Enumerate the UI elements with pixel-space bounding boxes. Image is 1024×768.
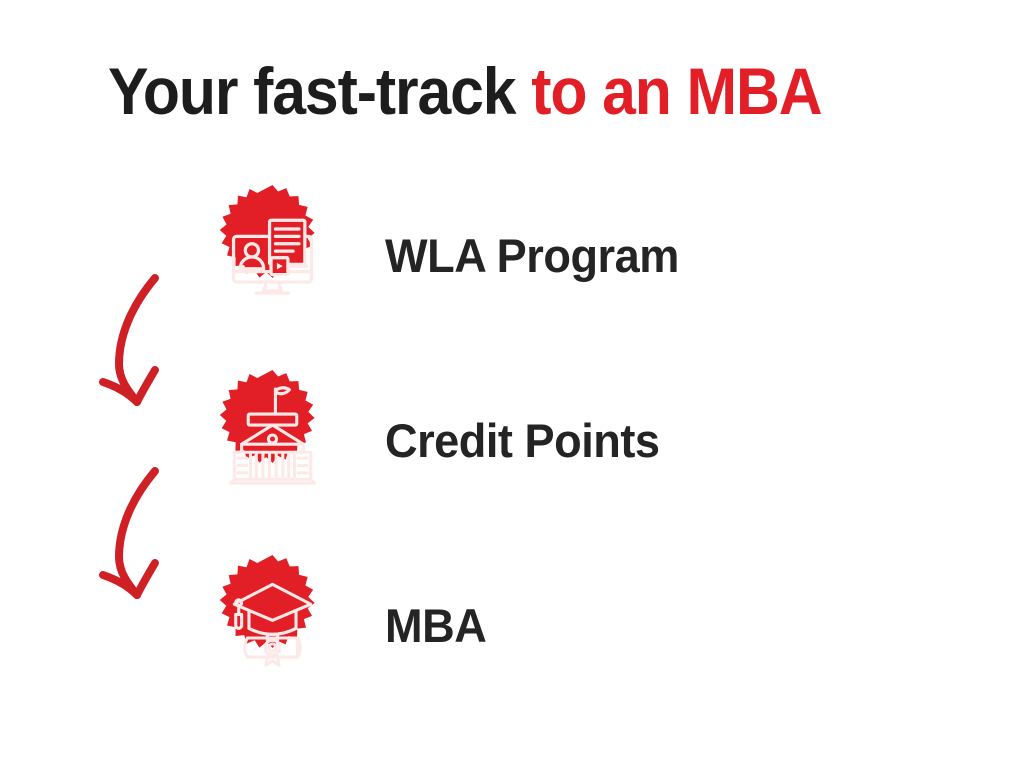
badge-mba	[199, 552, 346, 699]
slide-canvas: Your fast-track to an MBA	[0, 0, 1024, 768]
hand-drawn-down-arrow	[93, 465, 193, 605]
step-label-credit-points: Credit Points	[385, 365, 660, 515]
arrow-head-right	[137, 370, 155, 402]
badge-credit-points	[199, 367, 346, 514]
step-label-mba: MBA	[385, 550, 486, 700]
arrow-head-right	[137, 563, 155, 595]
hand-drawn-down-arrow	[93, 272, 193, 412]
scalloped-badge-shape	[220, 370, 315, 463]
badge-wla-program	[199, 182, 346, 329]
step-label-wla-program: WLA Program	[385, 180, 679, 330]
page-title-dark-part: Your fast-track	[108, 54, 531, 128]
page-title: Your fast-track to an MBA	[108, 58, 822, 124]
page-title-red-part: to an MBA	[531, 54, 821, 128]
